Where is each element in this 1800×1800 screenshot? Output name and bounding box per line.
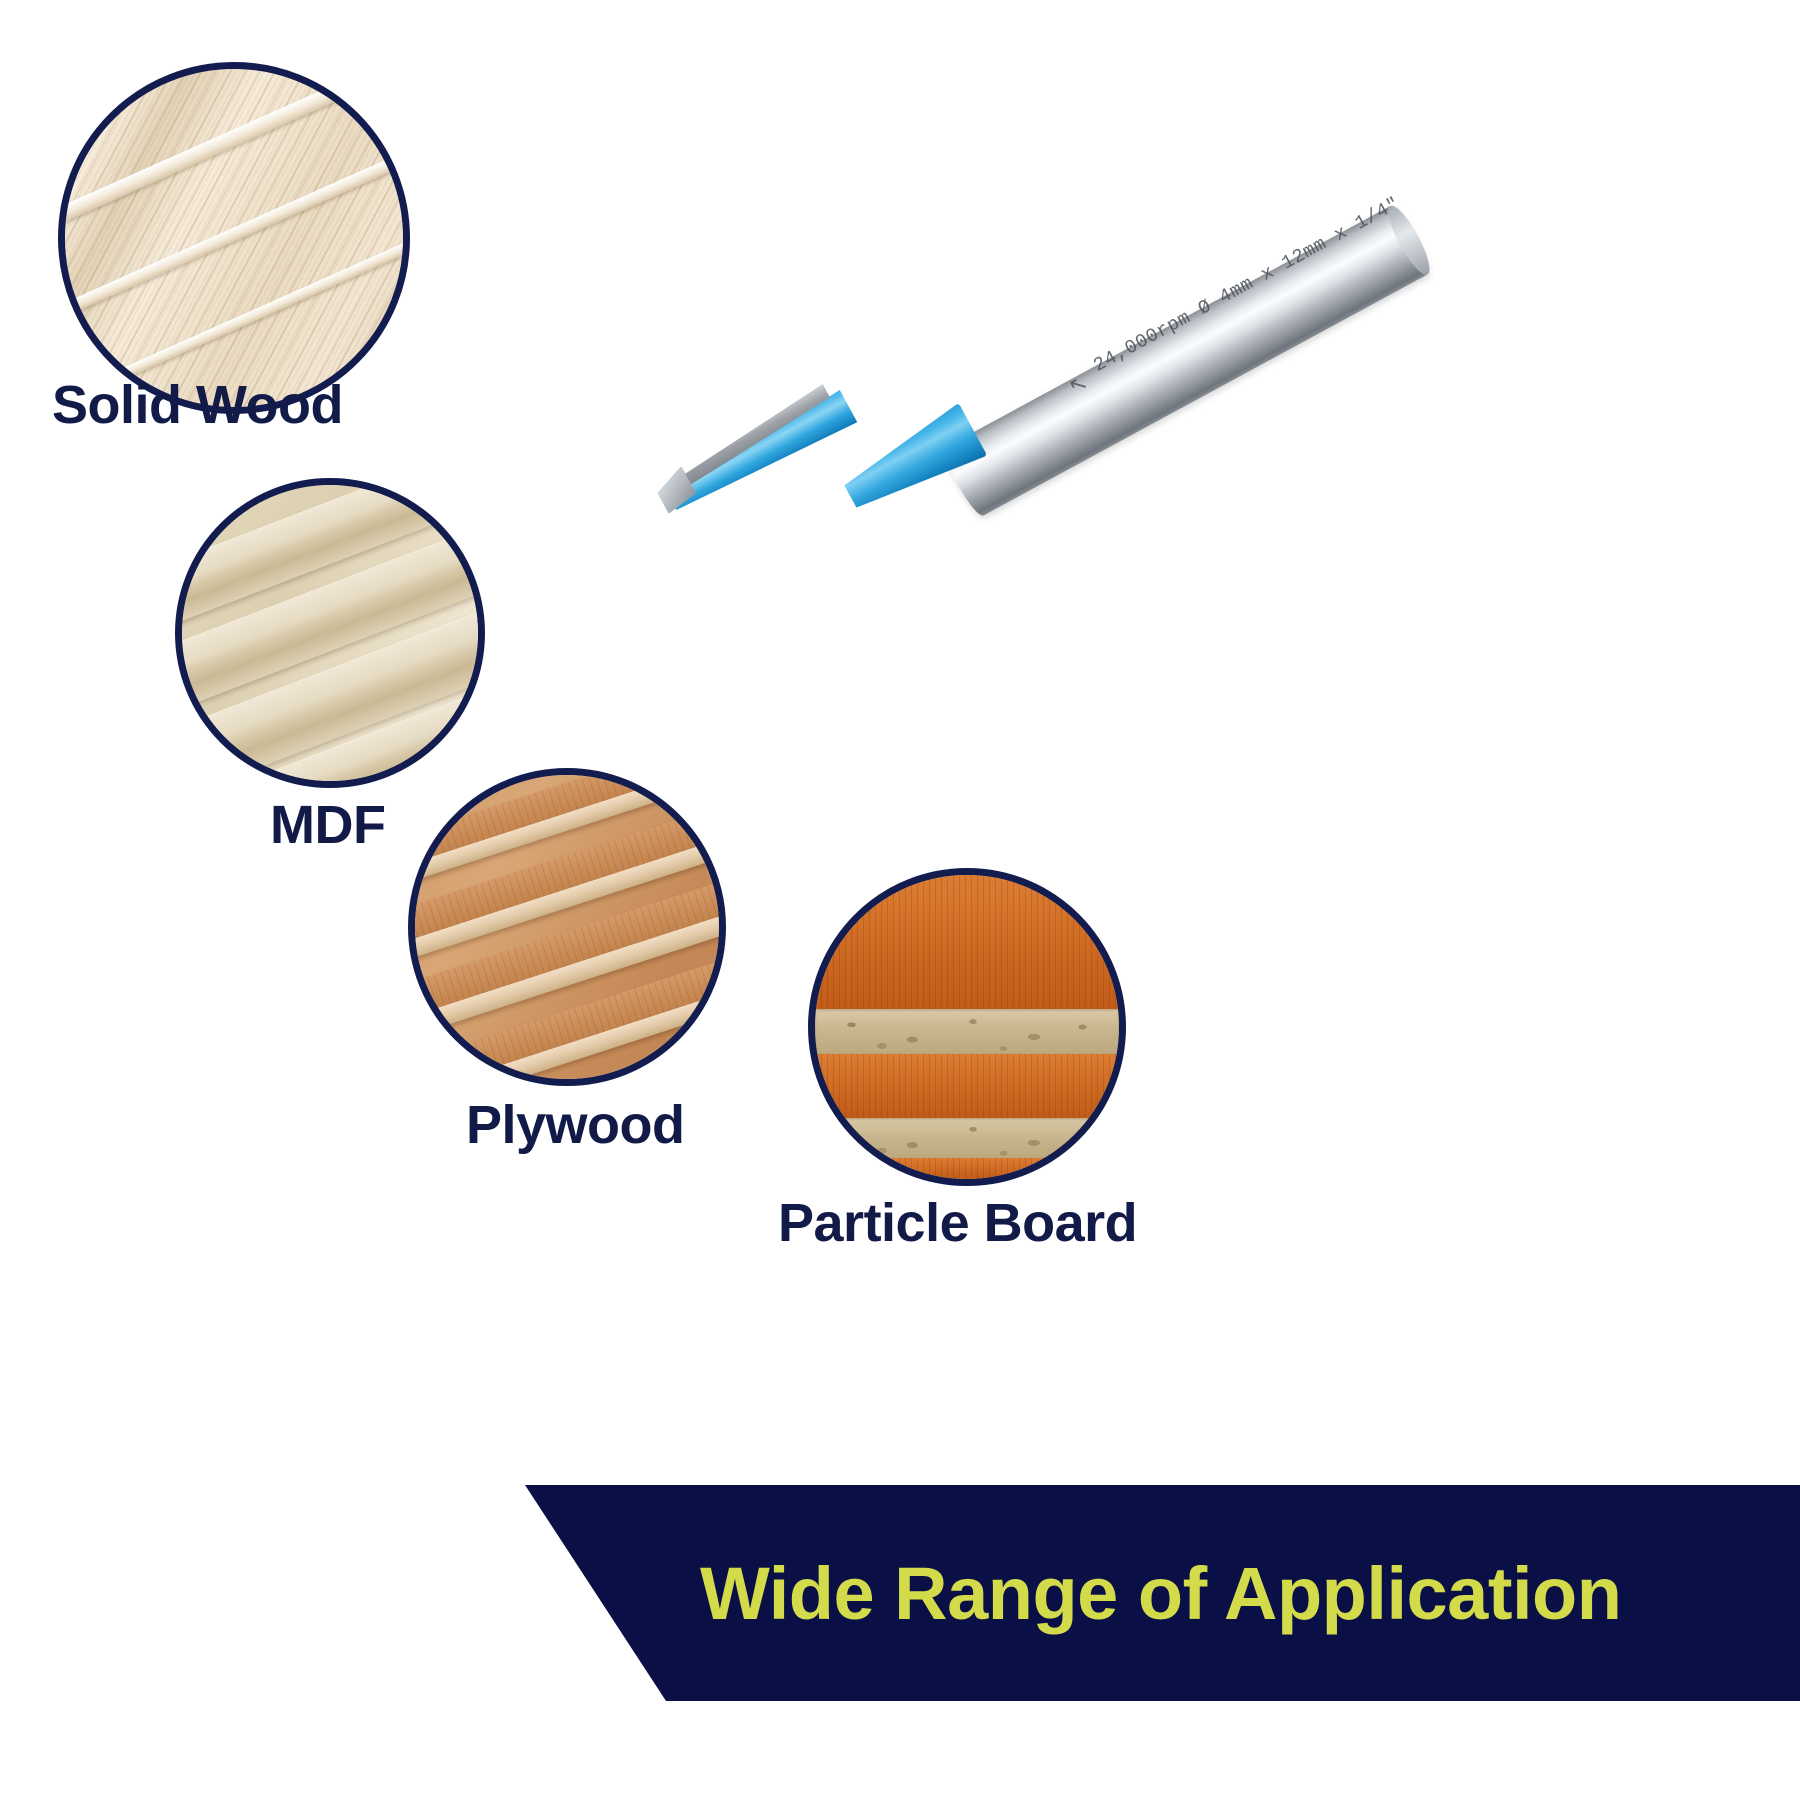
router-bit-carbide-cutting-edge: [655, 383, 835, 498]
solid-wood-photo-circle: [58, 62, 410, 414]
router-bit-shank-marking: 24,000rpm Ø 4mm x 12mm x 1/4": [1090, 193, 1404, 377]
particle-board-chip-core: [815, 1118, 1119, 1158]
footer-banner: Wide Range of Application: [0, 1485, 1800, 1701]
router-bit-shank: [939, 203, 1433, 520]
mdf-boards-photo: [182, 485, 478, 781]
particle-board-laminate-face: [815, 1054, 1119, 1118]
solid-wood-photo: [65, 69, 403, 407]
plywood-photo-circle: [408, 768, 726, 1086]
material-label-particle-board: Particle Board: [778, 1196, 1137, 1250]
particle-board-chip-core: [815, 1009, 1119, 1055]
particle-board-photo-circle: [808, 868, 1126, 1186]
plywood-sheets-photo: [415, 775, 719, 1079]
mdf-photo-circle: [175, 478, 485, 788]
footer-headline: Wide Range of Application: [700, 1551, 1621, 1636]
infographic-canvas: Solid Wood MDF: [0, 0, 1800, 1800]
router-bit-blue-collar: [836, 403, 988, 523]
material-label-plywood: Plywood: [466, 1098, 685, 1152]
particle-board-photo: [815, 875, 1119, 1179]
particle-board-laminate-face: [815, 875, 1119, 1009]
router-bit-blue-flute: [657, 385, 859, 523]
router-bit-tip: [651, 466, 698, 514]
particle-board-laminate-face: [815, 1158, 1119, 1179]
rotation-arrow-icon: ↖: [1064, 369, 1093, 401]
router-bit-product-image: ↖ 24,000rpm Ø 4mm x 12mm x 1/4": [640, 180, 1540, 680]
material-label-mdf: MDF: [270, 798, 385, 852]
router-bit-shank-end: [1381, 201, 1436, 279]
material-label-solid-wood: Solid Wood: [52, 378, 343, 432]
